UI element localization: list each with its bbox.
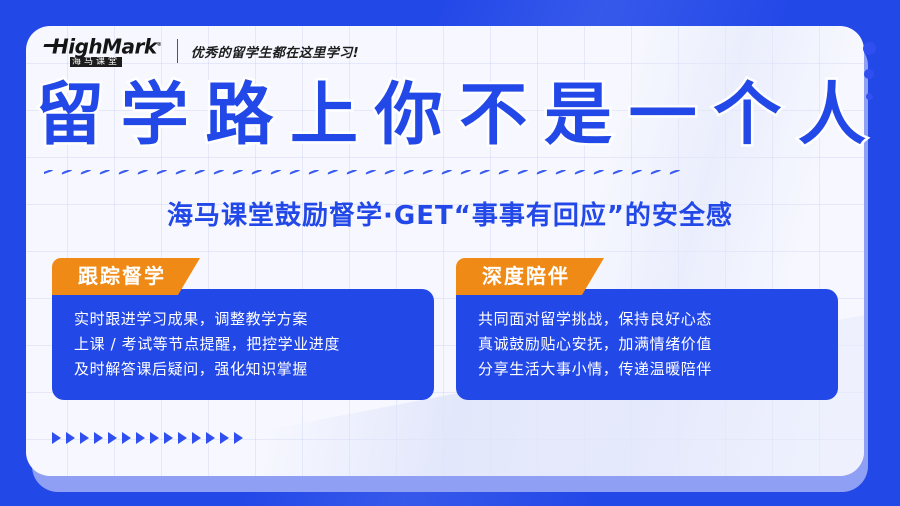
logo-wordmark-text: HighMark	[52, 34, 157, 58]
arrow-right-icon	[94, 432, 103, 444]
logo: HighMark® 海马课堂	[52, 35, 162, 68]
brand-header: HighMark® 海马课堂 优秀的留学生都在这里学习!	[52, 34, 359, 68]
divider-dash-icon	[327, 170, 338, 175]
divider-dash-icon	[574, 170, 585, 175]
divider-dash-icon	[441, 170, 452, 175]
divider-dash-icon	[289, 170, 300, 175]
feature-card: 深度陪伴 共同面对留学挑战，保持良好心态 真诚鼓励贴心安抚，加满情绪价值 分享生…	[456, 258, 838, 400]
brand-tagline: 优秀的留学生都在这里学习!	[191, 42, 359, 61]
logo-trademark-icon: ®	[157, 42, 162, 48]
headline-char: 留	[36, 78, 104, 154]
headline-char: 不	[459, 78, 527, 154]
divider-dash-icon	[251, 170, 262, 175]
feature-card-line: 真诚鼓励贴心安抚，加满情绪价值	[478, 332, 818, 357]
arrow-strip	[52, 432, 243, 444]
headline-char: 是	[544, 78, 612, 154]
divider-dash-icon	[99, 170, 110, 175]
headline-char: 路	[205, 78, 273, 154]
arrow-right-icon	[178, 432, 187, 444]
divider-dash-icon	[175, 170, 186, 175]
headline-char: 上	[290, 78, 358, 154]
divider-dash-icon	[536, 170, 547, 175]
headline-char: 个	[713, 78, 781, 154]
divider-dash-icon	[194, 170, 205, 175]
feature-card-tab: 跟踪督学	[52, 258, 200, 295]
divider-dash-icon	[232, 170, 243, 175]
arrow-right-icon	[136, 432, 145, 444]
divider-dash-icon	[384, 170, 395, 175]
logo-wordmark: HighMark®	[52, 35, 162, 57]
feature-card-line: 共同面对留学挑战，保持良好心态	[478, 307, 818, 332]
dot-medium-icon	[864, 69, 874, 79]
dot-large-icon	[863, 42, 876, 55]
arrow-right-icon	[220, 432, 229, 444]
headline-char: 学	[121, 78, 189, 154]
divider-dash-icon	[422, 170, 433, 175]
feature-card-line: 分享生活大事小情，传递温暖陪伴	[478, 357, 818, 382]
arrow-right-icon	[66, 432, 75, 444]
divider-dash-icon	[365, 170, 376, 175]
divider-dash-icon	[346, 170, 357, 175]
arrow-right-icon	[52, 432, 61, 444]
dashed-divider	[44, 170, 834, 184]
logo-strike-icon	[44, 44, 67, 47]
divider-dash-icon	[137, 170, 148, 175]
divider-dash-icon	[118, 170, 129, 175]
divider-dash-icon	[517, 170, 528, 175]
divider-dash-icon	[308, 170, 319, 175]
feature-card: 跟踪督学 实时跟进学习成果，调整教学方案 上课 / 考试等节点提醒，把控学业进度…	[52, 258, 434, 400]
logo-subtitle: 海马课堂	[70, 57, 122, 67]
headline-char: 你	[375, 78, 443, 154]
feature-card-body: 共同面对留学挑战，保持良好心态 真诚鼓励贴心安抚，加满情绪价值 分享生活大事小情…	[456, 289, 838, 400]
arrow-right-icon	[234, 432, 243, 444]
divider-dash-icon	[669, 170, 680, 175]
feature-card-title: 跟踪督学	[78, 258, 166, 295]
feature-card-title: 深度陪伴	[482, 258, 570, 295]
feature-card-list: 跟踪督学 实时跟进学习成果，调整教学方案 上课 / 考试等节点提醒，把控学业进度…	[52, 258, 838, 400]
dot-decoration	[856, 42, 882, 100]
divider-dash-icon	[498, 170, 509, 175]
arrow-right-icon	[80, 432, 89, 444]
headline-char: 一	[629, 78, 697, 154]
divider-dash-icon	[460, 170, 471, 175]
poster-canvas: HighMark® 海马课堂 优秀的留学生都在这里学习! 留 学 路 上 你 不…	[0, 0, 900, 506]
divider-dash-icon	[403, 170, 414, 175]
divider-dash-icon	[213, 170, 224, 175]
divider-dash-icon	[44, 170, 54, 175]
divider-dash-icon	[612, 170, 623, 175]
divider-dash-icon	[156, 170, 167, 175]
feature-card-line: 上课 / 考试等节点提醒，把控学业进度	[74, 332, 414, 357]
divider-dash-icon	[650, 170, 661, 175]
header-divider	[177, 39, 178, 63]
subtitle: 海马课堂鼓励督学·GET“事事有回应”的安全感	[0, 196, 900, 236]
headline: 留 学 路 上 你 不 是 一 个 人	[36, 78, 866, 154]
divider-dash-icon	[479, 170, 490, 175]
arrow-right-icon	[192, 432, 201, 444]
divider-dash-icon	[80, 170, 91, 175]
arrow-right-icon	[206, 432, 215, 444]
divider-dash-icon	[61, 170, 72, 175]
feature-card-tab: 深度陪伴	[456, 258, 604, 295]
dot-small-icon	[866, 93, 873, 100]
arrow-right-icon	[150, 432, 159, 444]
feature-card-body: 实时跟进学习成果，调整教学方案 上课 / 考试等节点提醒，把控学业进度 及时解答…	[52, 289, 434, 400]
divider-dash-icon	[593, 170, 604, 175]
arrow-right-icon	[122, 432, 131, 444]
arrow-right-icon	[164, 432, 173, 444]
divider-dash-icon	[555, 170, 566, 175]
feature-card-line: 实时跟进学习成果，调整教学方案	[74, 307, 414, 332]
arrow-right-icon	[108, 432, 117, 444]
feature-card-line: 及时解答课后疑问，强化知识掌握	[74, 357, 414, 382]
divider-dash-icon	[270, 170, 281, 175]
divider-dash-icon	[631, 170, 642, 175]
